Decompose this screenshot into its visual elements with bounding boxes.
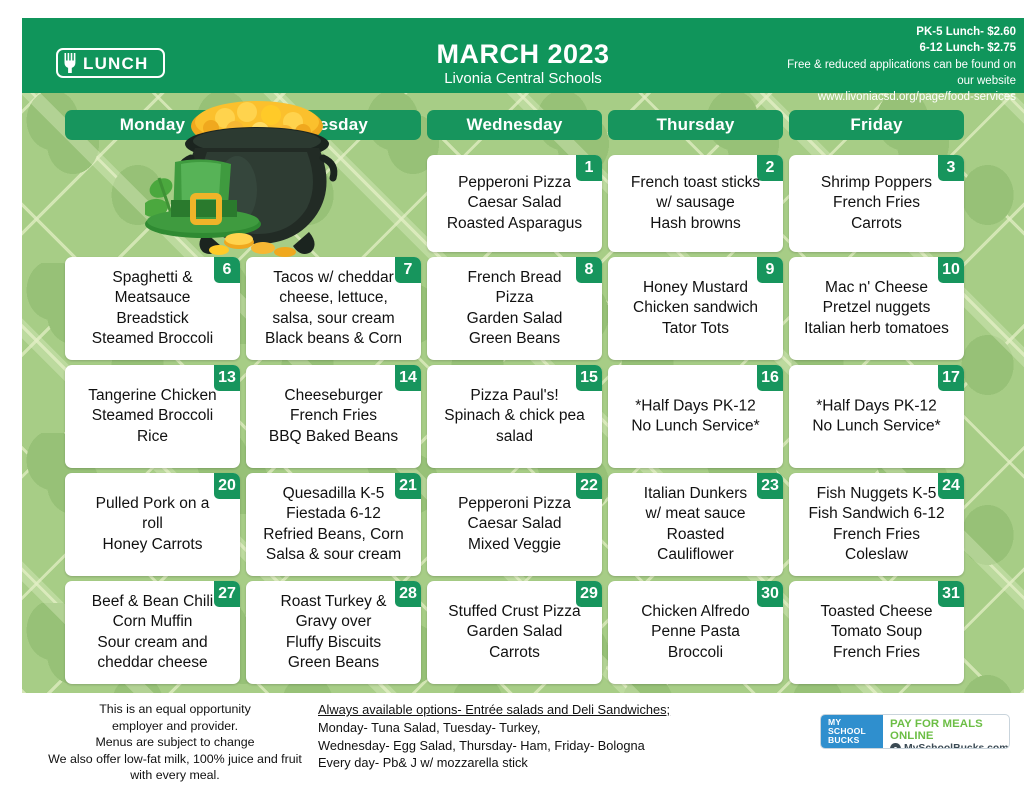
menu-item-list: Stuffed Crust PizzaGarden SaladCarrots [429, 602, 600, 664]
page-header: LUNCH MARCH 2023 Livonia Central Schools… [22, 18, 1024, 93]
day-cell[interactable]: 6Spaghetti &MeatsauceBreadstickSteamed B… [65, 257, 240, 360]
menu-item-list: Spaghetti &MeatsauceBreadstickSteamed Br… [67, 267, 238, 349]
day-number-badge: 30 [757, 581, 783, 607]
menu-item: Roast Turkey & [248, 591, 419, 612]
menu-item: Italian Dunkers [610, 483, 781, 504]
menu-item: Chicken sandwich [610, 298, 781, 319]
menu-item: Green Beans [429, 329, 600, 350]
always-available-headline: Always available options- Entrée salads … [318, 701, 788, 719]
day-cell[interactable]: 21Quesadilla K-5Fiestada 6-12Refried Bea… [246, 473, 421, 576]
pay-online-label: PAY FOR MEALS ONLINE [890, 718, 1009, 742]
day-number-badge: 13 [214, 365, 240, 391]
weekday-header-row: MondayTuesdayWednesdayThursdayFriday [22, 93, 1024, 123]
menu-item: Rice [67, 427, 238, 448]
menu-item: *Half Days PK-12 [610, 396, 781, 417]
day-number-badge: 7 [395, 257, 421, 283]
day-cell[interactable]: 31Toasted CheeseTomato SoupFrench Fries [789, 581, 964, 684]
menu-item: Tangerine Chicken [67, 386, 238, 407]
menu-item: Breadstick [67, 309, 238, 330]
globe-icon: ● [890, 743, 901, 749]
menu-item-list: Fish Nuggets K-5Fish Sandwich 6-12French… [791, 483, 962, 565]
price-612: 6-12 Lunch- $2.75 [787, 40, 1016, 56]
day-number-badge: 3 [938, 155, 964, 181]
day-cell[interactable]: 24Fish Nuggets K-5Fish Sandwich 6-12Fren… [789, 473, 964, 576]
day-cell[interactable]: 23Italian Dunkersw/ meat sauceRoastedCau… [608, 473, 783, 576]
menu-item: w/ meat sauce [610, 504, 781, 525]
menu-item: Black beans & Corn [248, 329, 419, 350]
day-cell[interactable]: 1Pepperoni PizzaCaesar SaladRoasted Aspa… [427, 155, 602, 252]
menu-item: Garden Salad [429, 622, 600, 643]
menu-item: Fiestada 6-12 [248, 504, 419, 525]
applications-note-line1: Free & reduced applications can be found… [787, 57, 1016, 73]
day-cell[interactable]: 15Pizza Paul's!Spinach & chick peasalad [427, 365, 602, 468]
disclaimer-line-3: Menus are subject to change [40, 734, 310, 751]
day-cell[interactable]: 28Roast Turkey &Gravy overFluffy Biscuit… [246, 581, 421, 684]
day-cell[interactable]: 8French BreadPizzaGarden SaladGreen Bean… [427, 257, 602, 360]
always-available-options: Always available options- Entrée salads … [318, 701, 788, 772]
menu-item-list: French BreadPizzaGarden SaladGreen Beans [429, 267, 600, 349]
myschoolbucks-url[interactable]: MySchoolBucks.com [904, 743, 1009, 749]
day-number-badge: 23 [757, 473, 783, 499]
menu-item-list: *Half Days PK-12No Lunch Service* [610, 396, 781, 437]
menu-item: Corn Muffin [67, 612, 238, 633]
menu-item: French Bread [429, 267, 600, 288]
menu-item: Carrots [791, 214, 962, 235]
menu-item-list: CheeseburgerFrench FriesBBQ Baked Beans [248, 386, 419, 448]
menu-item: Pizza [429, 288, 600, 309]
day-number-badge: 16 [757, 365, 783, 391]
menu-item-list: Tangerine ChickenSteamed BroccoliRice [67, 386, 238, 448]
day-number-badge: 24 [938, 473, 964, 499]
menu-item-list: Pepperoni PizzaCaesar SaladRoasted Aspar… [429, 173, 600, 235]
menu-item: Steamed Broccoli [67, 329, 238, 350]
disclaimer-line-4: We also offer low-fat milk, 100% juice a… [40, 751, 310, 768]
day-number-badge: 20 [214, 473, 240, 499]
day-number-badge: 17 [938, 365, 964, 391]
myschoolbucks-text: PAY FOR MEALS ONLINE ● MySchoolBucks.com [883, 715, 1009, 748]
menu-item: Spaghetti & [67, 267, 238, 288]
menu-item: Gravy over [248, 612, 419, 633]
menu-item: French Fries [248, 406, 419, 427]
calendar-grid: MondayTuesdayWednesdayThursdayFriday1Pep… [22, 93, 1024, 693]
day-cell[interactable]: 2French toast sticksw/ sausageHash brown… [608, 155, 783, 252]
menu-item: Chicken Alfredo [610, 602, 781, 623]
menu-item: Toasted Cheese [791, 602, 962, 623]
menu-item: Roasted Asparagus [429, 214, 600, 235]
menu-item: w/ sausage [610, 193, 781, 214]
day-cell[interactable]: 7Tacos w/ cheddarcheese, lettuce,salsa, … [246, 257, 421, 360]
day-cell[interactable]: 27Beef & Bean ChiliCorn MuffinSour cream… [65, 581, 240, 684]
weekday-header-wednesday: Wednesday [427, 110, 602, 140]
menu-item: Carrots [429, 643, 600, 664]
weekday-header-thursday: Thursday [608, 110, 783, 140]
day-number-badge: 21 [395, 473, 421, 499]
day-number-badge: 27 [214, 581, 240, 607]
menu-item: No Lunch Service* [791, 417, 962, 438]
menu-item: Spinach & chick pea [429, 406, 600, 427]
menu-item-list: Pizza Paul's!Spinach & chick peasalad [429, 386, 600, 448]
menu-item: Steamed Broccoli [67, 406, 238, 427]
menu-item: BBQ Baked Beans [248, 427, 419, 448]
menu-item: Fluffy Biscuits [248, 633, 419, 654]
day-number-badge: 31 [938, 581, 964, 607]
menu-item: Tomato Soup [791, 622, 962, 643]
menu-item: Refried Beans, Corn [248, 525, 419, 546]
menu-item: roll [67, 514, 238, 535]
always-available-line-2: Wednesday- Egg Salad, Thursday- Ham, Fri… [318, 737, 788, 755]
menu-item: Honey Mustard [610, 278, 781, 299]
menu-item: French toast sticks [610, 173, 781, 194]
menu-item: Fish Nuggets K-5 [791, 483, 962, 504]
day-cell[interactable]: 20Pulled Pork on arollHoney Carrots [65, 473, 240, 576]
menu-item: Beef & Bean Chili [67, 591, 238, 612]
myschoolbucks-url-row[interactable]: ● MySchoolBucks.com [890, 743, 1009, 749]
day-number-badge: 9 [757, 257, 783, 283]
menu-item-list: Quesadilla K-5Fiestada 6-12Refried Beans… [248, 483, 419, 565]
disclaimer-line-1: This is an equal opportunity [40, 701, 310, 718]
always-available-line-1: Monday- Tuna Salad, Tuesday- Turkey, [318, 719, 788, 737]
day-number-badge: 14 [395, 365, 421, 391]
menu-item: Coleslaw [791, 545, 962, 566]
menu-item: Shrimp Poppers [791, 173, 962, 194]
menu-item: Sour cream and [67, 633, 238, 654]
menu-item: Stuffed Crust Pizza [429, 602, 600, 623]
menu-item: Hash browns [610, 214, 781, 235]
menu-item: Caesar Salad [429, 193, 600, 214]
menu-item: Salsa & sour cream [248, 545, 419, 566]
day-cell[interactable]: 22Pepperoni PizzaCaesar SaladMixed Veggi… [427, 473, 602, 576]
menu-item: Fish Sandwich 6-12 [791, 504, 962, 525]
menu-item: Cauliflower [610, 545, 781, 566]
day-cell[interactable]: 9Honey MustardChicken sandwichTator Tots [608, 257, 783, 360]
menu-item-list: Tacos w/ cheddarcheese, lettuce,salsa, s… [248, 267, 419, 349]
menu-item: Roasted [610, 525, 781, 546]
menu-item-list: French toast sticksw/ sausageHash browns [610, 173, 781, 235]
disclaimer-line-5: with every meal. [40, 767, 310, 784]
day-cell[interactable]: 29Stuffed Crust PizzaGarden SaladCarrots [427, 581, 602, 684]
menu-item: cheese, lettuce, [248, 288, 419, 309]
day-number-badge: 15 [576, 365, 602, 391]
day-number-badge: 8 [576, 257, 602, 283]
menu-item: French Fries [791, 193, 962, 214]
menu-item: Pizza Paul's! [429, 386, 600, 407]
menu-item-list: Chicken AlfredoPenne PastaBroccoli [610, 602, 781, 664]
menu-item: Pepperoni Pizza [429, 494, 600, 515]
menu-item: Penne Pasta [610, 622, 781, 643]
day-number-badge: 28 [395, 581, 421, 607]
day-number-badge: 29 [576, 581, 602, 607]
menu-item: Mac n' Cheese [791, 278, 962, 299]
myschoolbucks-logo: MY SCHOOL BUCKS [821, 715, 883, 748]
day-number-badge: 6 [214, 257, 240, 283]
menu-item: Honey Carrots [67, 535, 238, 556]
menu-item: Pretzel nuggets [791, 298, 962, 319]
menu-item-list: Honey MustardChicken sandwichTator Tots [610, 278, 781, 340]
menu-item: *Half Days PK-12 [791, 396, 962, 417]
menu-item: Pepperoni Pizza [429, 173, 600, 194]
menu-item: salsa, sour cream [248, 309, 419, 330]
day-cell[interactable]: 10Mac n' CheesePretzel nuggetsItalian he… [789, 257, 964, 360]
applications-note-line2: our website [787, 73, 1016, 89]
menu-item: Italian herb tomatoes [791, 319, 962, 340]
day-number-badge: 22 [576, 473, 602, 499]
menu-item: Garden Salad [429, 309, 600, 330]
day-number-badge: 1 [576, 155, 602, 181]
menu-item: Meatsauce [67, 288, 238, 309]
menu-item-list: Pulled Pork on arollHoney Carrots [67, 494, 238, 556]
menu-item-list: Beef & Bean ChiliCorn MuffinSour cream a… [67, 591, 238, 673]
menu-item: Green Beans [248, 653, 419, 674]
weekday-header-friday: Friday [789, 110, 964, 140]
menu-item: Broccoli [610, 643, 781, 664]
menu-item: salad [429, 427, 600, 448]
menu-item: Tacos w/ cheddar [248, 267, 419, 288]
disclaimer-text: This is an equal opportunity employer an… [40, 701, 310, 784]
disclaimer-line-2: employer and provider. [40, 718, 310, 735]
menu-item: Caesar Salad [429, 514, 600, 535]
myschoolbucks-logo-line3: BUCKS [828, 736, 883, 745]
menu-item: cheddar cheese [67, 653, 238, 674]
day-number-badge: 2 [757, 155, 783, 181]
menu-item: Mixed Veggie [429, 535, 600, 556]
weekday-header-tuesday: Tuesday [246, 110, 421, 140]
menu-item-list: Pepperoni PizzaCaesar SaladMixed Veggie [429, 494, 600, 556]
day-number-badge: 10 [938, 257, 964, 283]
menu-item: Pulled Pork on a [67, 494, 238, 515]
menu-item: Tator Tots [610, 319, 781, 340]
day-cell[interactable]: 30Chicken AlfredoPenne PastaBroccoli [608, 581, 783, 684]
weekday-header-monday: Monday [65, 110, 240, 140]
day-cell[interactable]: 3Shrimp PoppersFrench FriesCarrots [789, 155, 964, 252]
menu-item-list: Mac n' CheesePretzel nuggetsItalian herb… [791, 278, 962, 340]
menu-item-list: Toasted CheeseTomato SoupFrench Fries [791, 602, 962, 664]
day-cell[interactable]: 14CheeseburgerFrench FriesBBQ Baked Bean… [246, 365, 421, 468]
menu-item: No Lunch Service* [610, 417, 781, 438]
day-cell[interactable]: 16*Half Days PK-12No Lunch Service* [608, 365, 783, 468]
lunch-menu-page: LUNCH MARCH 2023 Livonia Central Schools… [0, 0, 1024, 791]
menu-item: Cheeseburger [248, 386, 419, 407]
menu-item-list: Shrimp PoppersFrench FriesCarrots [791, 173, 962, 235]
day-cell[interactable]: 13Tangerine ChickenSteamed BroccoliRice [65, 365, 240, 468]
myschoolbucks-badge[interactable]: MY SCHOOL BUCKS PAY FOR MEALS ONLINE ● M… [820, 714, 1010, 749]
menu-item-list: *Half Days PK-12No Lunch Service* [791, 396, 962, 437]
menu-item-list: Italian Dunkersw/ meat sauceRoastedCauli… [610, 483, 781, 565]
menu-item: Quesadilla K-5 [248, 483, 419, 504]
menu-item: French Fries [791, 525, 962, 546]
always-available-line-3: Every day- Pb& J w/ mozzarella stick [318, 754, 788, 772]
price-pk5: PK-5 Lunch- $2.60 [787, 24, 1016, 40]
menu-item-list: Roast Turkey &Gravy overFluffy BiscuitsG… [248, 591, 419, 673]
day-cell[interactable]: 17*Half Days PK-12No Lunch Service* [789, 365, 964, 468]
menu-item: French Fries [791, 643, 962, 664]
